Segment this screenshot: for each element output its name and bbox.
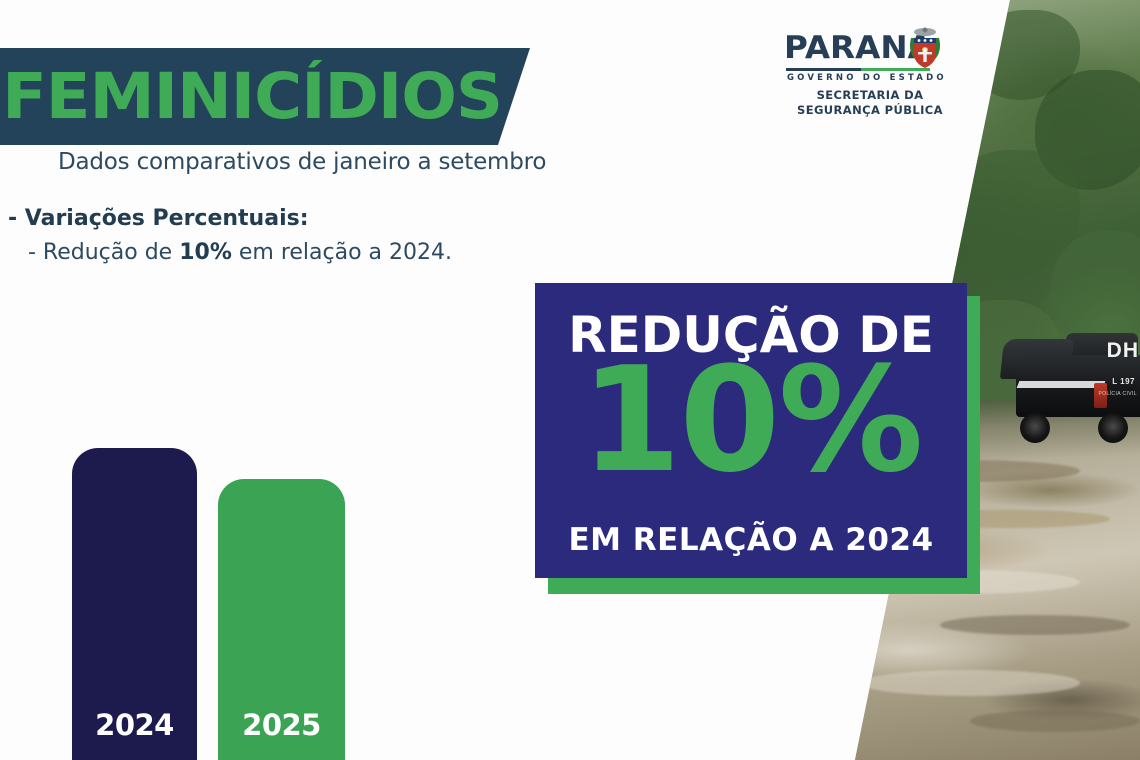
mud-streak <box>940 615 1130 635</box>
bar-label-2025: 2025 <box>218 708 345 742</box>
variations-item-highlight: 10% <box>179 240 232 265</box>
variations-item: - Redução de 10% em relação a 2024. <box>28 240 452 265</box>
logo-secretariat-line1: SECRETARIA DA <box>784 88 956 102</box>
mud-streak <box>860 670 1080 696</box>
highlight-panel: REDUÇÃO DE 10% EM RELAÇÃO A 2024 <box>535 283 967 578</box>
parana-government-logo: PARANÁ GOVERNO DO ESTADO SECRETARIA DA S… <box>784 30 956 110</box>
truck-wheel <box>1020 413 1050 443</box>
truck-marking-dh: DH <box>1107 339 1139 363</box>
bar-label-2024: 2024 <box>72 708 197 742</box>
bar-rect-2024: 2024 <box>72 448 197 760</box>
variations-heading: - Variações Percentuais: <box>8 206 309 231</box>
police-pickup-truck-icon: DH L 197 POLÍCIA CIVIL <box>990 325 1140 445</box>
parana-coat-of-arms-icon <box>902 26 948 72</box>
page-title: FEMINICÍDIOS <box>0 50 522 143</box>
variations-item-prefix: - Redução de <box>28 240 179 265</box>
variations-item-suffix: em relação a 2024. <box>232 240 452 265</box>
infographic-canvas: DH L 197 POLÍCIA CIVIL FEMINICÍDIOS Dado… <box>0 0 1140 760</box>
truck-wheel <box>1098 413 1128 443</box>
truck-unit-number: L 197 <box>1112 377 1135 386</box>
logo-secretariat-line2: SEGURANÇA PÚBLICA <box>784 103 956 117</box>
page-subtitle: Dados comparativos de janeiro a setembro <box>58 149 546 175</box>
mud-streak <box>970 710 1140 732</box>
highlight-percentage: 10% <box>535 345 967 497</box>
logo-government-line: GOVERNO DO ESTADO <box>787 73 947 83</box>
highlight-line-3: EM RELAÇÃO A 2024 <box>535 522 967 558</box>
truck-stripe <box>1017 381 1106 388</box>
bar-chart: 71 2024 64 2025 <box>60 405 370 760</box>
bar-rect-2025: 2025 <box>218 479 345 760</box>
truck-agency-text: POLÍCIA CIVIL <box>1098 391 1137 397</box>
